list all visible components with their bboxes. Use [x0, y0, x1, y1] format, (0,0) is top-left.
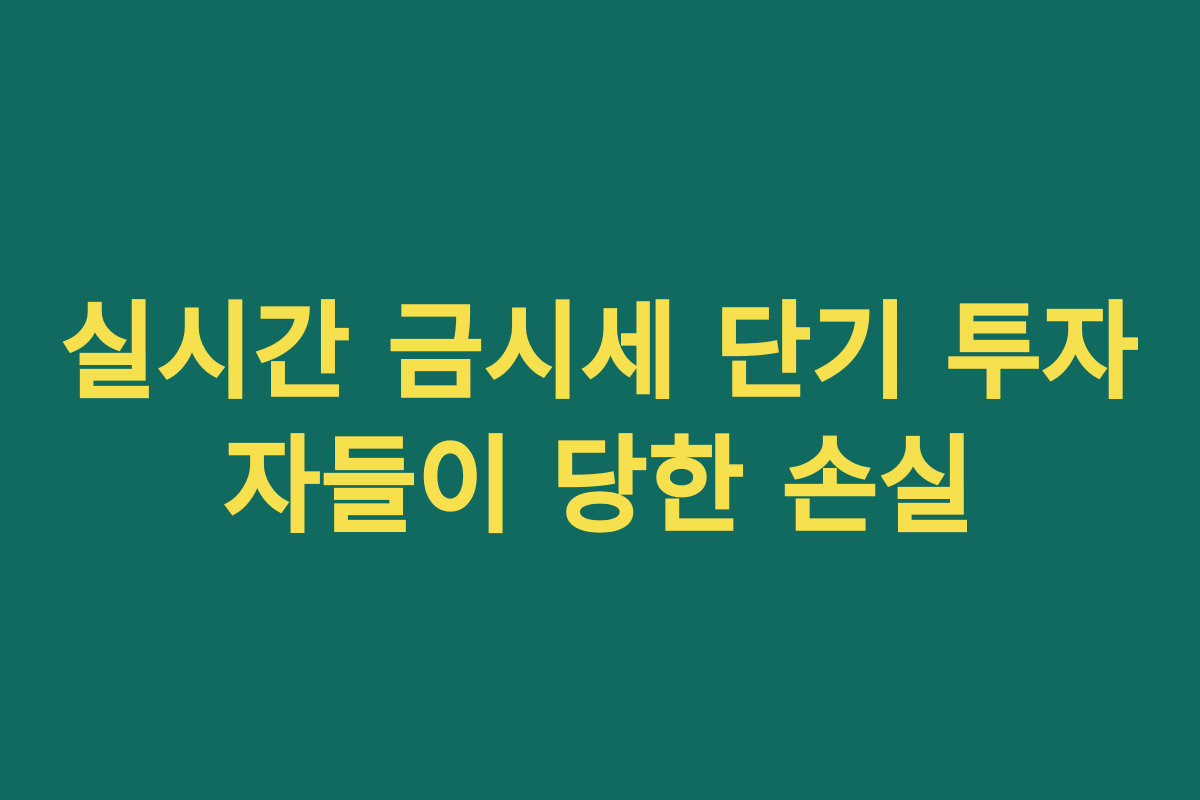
headline-line-2: 자들이 당한 손실 [50, 419, 1150, 553]
banner-canvas: 실시간 금시세 단기 투자 자들이 당한 손실 [0, 0, 1200, 800]
headline-line-1: 실시간 금시세 단기 투자 [50, 285, 1150, 419]
headline-block: 실시간 금시세 단기 투자 자들이 당한 손실 [50, 285, 1150, 553]
